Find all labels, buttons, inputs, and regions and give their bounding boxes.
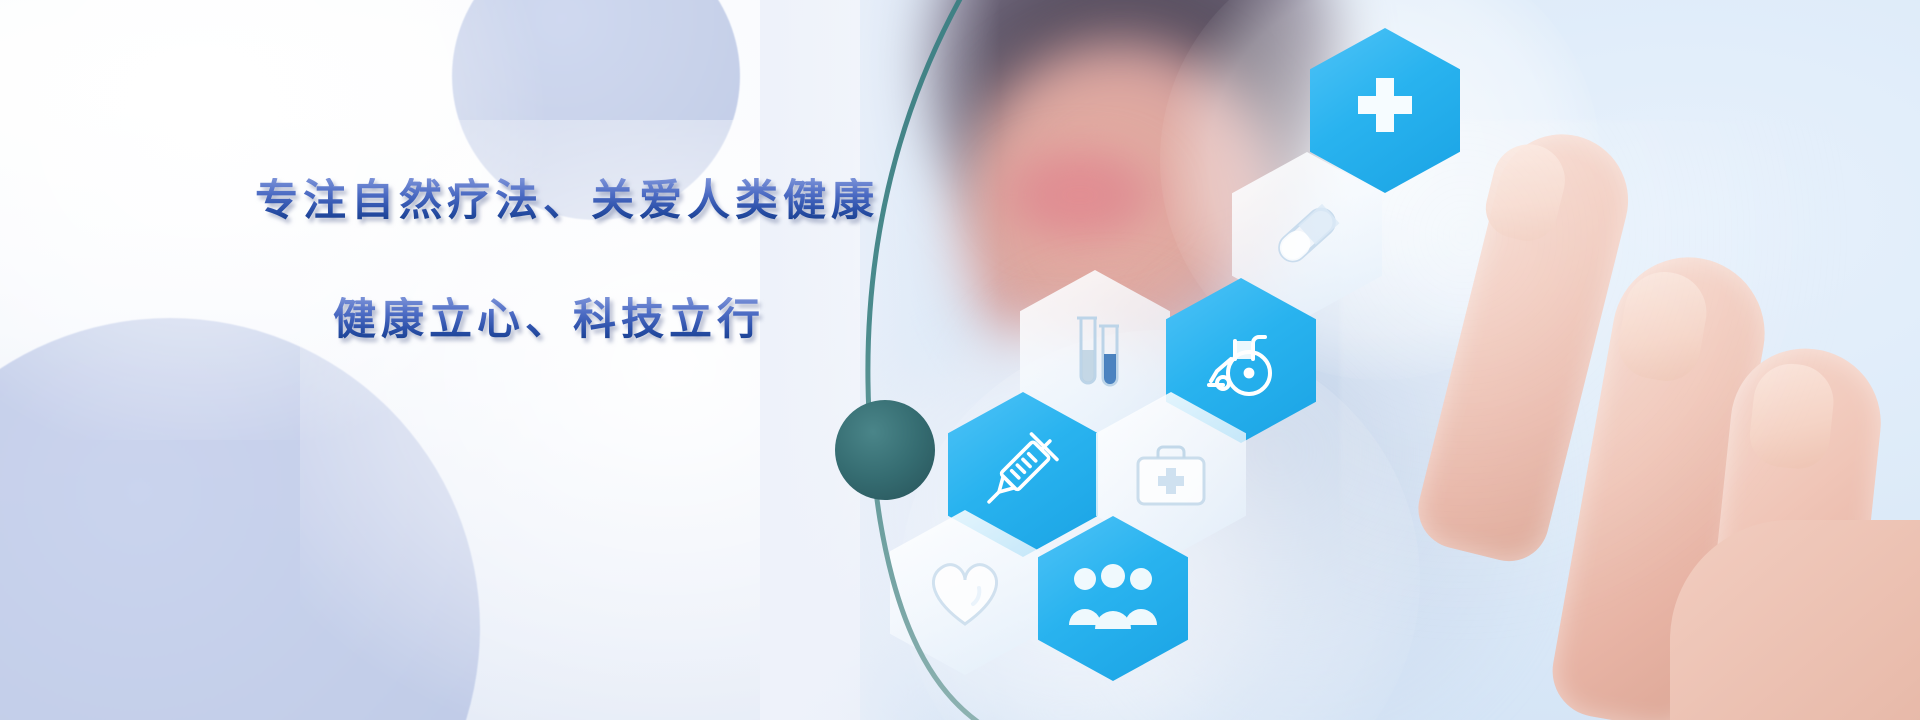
teal-arc-decoration bbox=[760, 0, 1100, 720]
headline-block: 专注自然疗法、关爱人类健康 健康立心、科技立行 bbox=[255, 178, 875, 345]
decorative-circle-bottom bbox=[0, 318, 480, 720]
arc-node-circle bbox=[835, 400, 935, 500]
headline-line-1: 专注自然疗法、关爱人类健康 bbox=[255, 178, 875, 225]
medical-cross-icon bbox=[1346, 72, 1424, 150]
hero-banner: 专注自然疗法、关爱人类健康 健康立心、科技立行 bbox=[0, 0, 1920, 720]
wheelchair-icon bbox=[1199, 321, 1283, 401]
headline-line-2: 健康立心、科技立行 bbox=[333, 297, 875, 344]
arc-path bbox=[868, 0, 990, 720]
first-aid-kit-icon bbox=[1130, 436, 1212, 514]
capsule-pill-icon bbox=[1265, 193, 1349, 277]
